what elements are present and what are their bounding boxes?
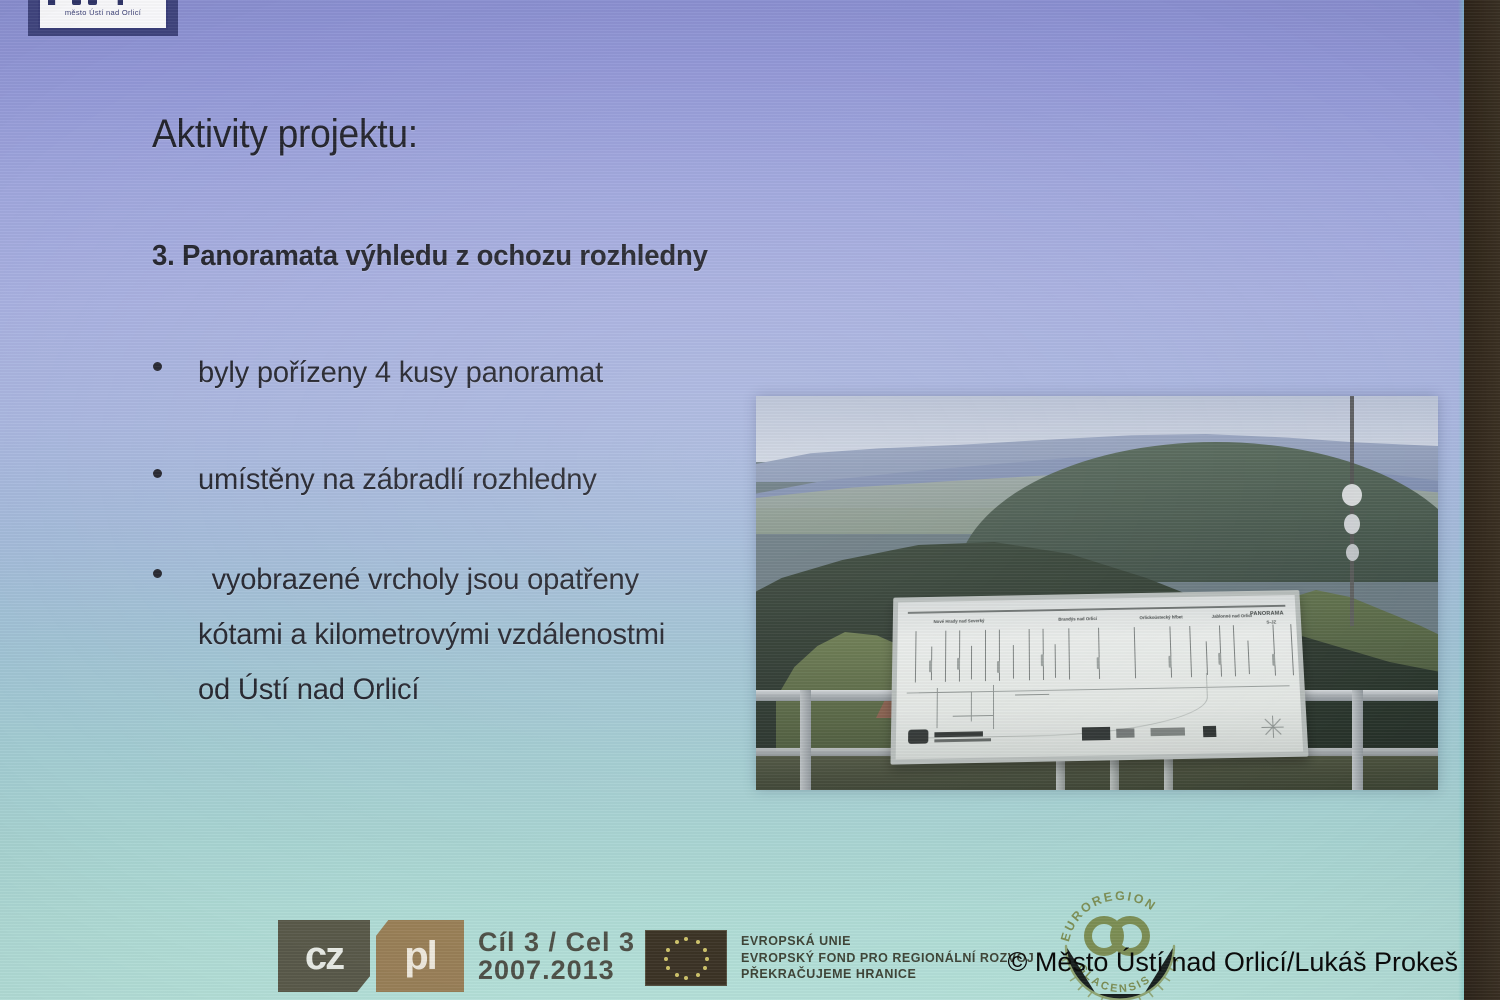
board-partner-logo-2 [1150, 727, 1185, 736]
cz-pl-programme-logo: cz pl Cíl 3 / Cel 3 2007.2013 [278, 920, 635, 992]
photo-transmitter-mast [1350, 396, 1354, 626]
board-city-subtitle [934, 738, 991, 742]
bullet-dot-icon [153, 569, 162, 578]
logo-glyph-1 [48, 0, 65, 5]
bullet-item-3-line-2: kótami a kilometrovými vzdálenostmi [198, 618, 665, 651]
czpl-pl-block: pl [376, 920, 464, 992]
board-partner-logo-1 [1116, 728, 1134, 737]
board-city-name [934, 731, 983, 737]
board-city-logo [908, 729, 928, 744]
eu-text-line-1: EVROPSKÁ UNIE [741, 933, 1034, 950]
euroregion-glacensis-logo: EUROREGION GLACENSIS [1056, 882, 1184, 1000]
slide-title: Aktivity projektu: [152, 112, 418, 157]
bullet-item-2-text: umístěny na zábradlí rozhledny [198, 452, 597, 507]
bullet-item-3-line-1: vyobrazené vrcholy jsou opatřeny [212, 552, 780, 607]
logo-glyph-4 [104, 0, 123, 5]
screen-right-dark-edge [1464, 0, 1500, 1000]
czpl-pl-label: pl [404, 934, 436, 979]
panorama-board: Nové Hrady nad Severký Brandýs nad Orlic… [890, 590, 1308, 765]
photo-mast-dish-3 [1346, 544, 1359, 561]
bullet-item-3-line-3: od Ústí nad Orlicí [198, 673, 419, 706]
eu-text-line-3: PŘEKRAČUJEME HRANICE [741, 966, 1034, 983]
logo-glyph-2 [72, 0, 81, 5]
eu-text-line-2: EVROPSKÝ FOND PRO REGIONÁLNÍ ROZVOJ [741, 950, 1034, 967]
photo-railing-post-left [800, 690, 811, 790]
eu-flag-icon [645, 930, 727, 986]
board-heading-3: Orlickoústecký hřbet [1139, 614, 1182, 620]
logo-glyph-3 [88, 0, 97, 5]
bullet-dot-icon [153, 362, 162, 371]
bullet-item-2: umístěny na zábradlí rozhledny [153, 452, 609, 507]
european-union-logo-block: EVROPSKÁ UNIE EVROPSKÝ FOND PRO REGIONÁL… [645, 930, 1034, 986]
city-logo-glyphs [48, 0, 123, 5]
board-heading-2: Brandýs nad Orlicí [1058, 616, 1097, 622]
city-logo-caption: město Ústí nad Orlicí [40, 8, 166, 17]
board-eu-logo [1082, 727, 1111, 741]
lookout-tower-photo: Nové Hrady nad Severký Brandýs nad Orlic… [756, 396, 1438, 790]
board-partner-logo-3 [1203, 726, 1217, 737]
photo-mast-dish-1 [1342, 484, 1362, 506]
bullet-item-1: byly pořízeny 4 kusy panoramat [153, 345, 616, 400]
slide-subtitle: 3. Panoramata výhledu z ochozu rozhledny [152, 240, 708, 273]
slide-footer: cz pl Cíl 3 / Cel 3 2007.2013 [0, 880, 1500, 1000]
czpl-goal-line-2: 2007.2013 [478, 956, 635, 984]
board-title: PANORAMA [1250, 611, 1284, 617]
photo-railing-post-right [1352, 690, 1363, 790]
city-logo-cropped: město Ústí nad Orlicí [38, 0, 168, 30]
czpl-cz-block: cz [278, 920, 370, 992]
bullet-item-3-text: vyobrazené vrcholy jsou opatřeny kótami … [198, 552, 780, 717]
board-heading-4: Jablonné nad Orlicí [1212, 613, 1253, 619]
bullet-dot-icon [153, 469, 162, 478]
photo-mast-dish-2 [1344, 514, 1360, 534]
bullet-item-3: vyobrazené vrcholy jsou opatřeny kótami … [153, 552, 798, 717]
czpl-goal-line-1: Cíl 3 / Cel 3 [478, 928, 635, 956]
board-heading-1: Nové Hrady nad Severký [933, 618, 984, 624]
copyright-watermark: © Město Ústí nad Orlicí/Lukáš Prokeš [1007, 947, 1458, 978]
czpl-cz-label: cz [305, 934, 343, 979]
projection-screen: město Ústí nad Orlicí Aktivity projektu:… [0, 0, 1500, 1000]
czpl-goal-text: Cíl 3 / Cel 3 2007.2013 [478, 928, 635, 985]
bullet-item-1-text: byly pořízeny 4 kusy panoramat [198, 345, 603, 400]
board-top-rule [908, 605, 1286, 614]
eu-logo-text: EVROPSKÁ UNIE EVROPSKÝ FOND PRO REGIONÁL… [741, 933, 1034, 983]
